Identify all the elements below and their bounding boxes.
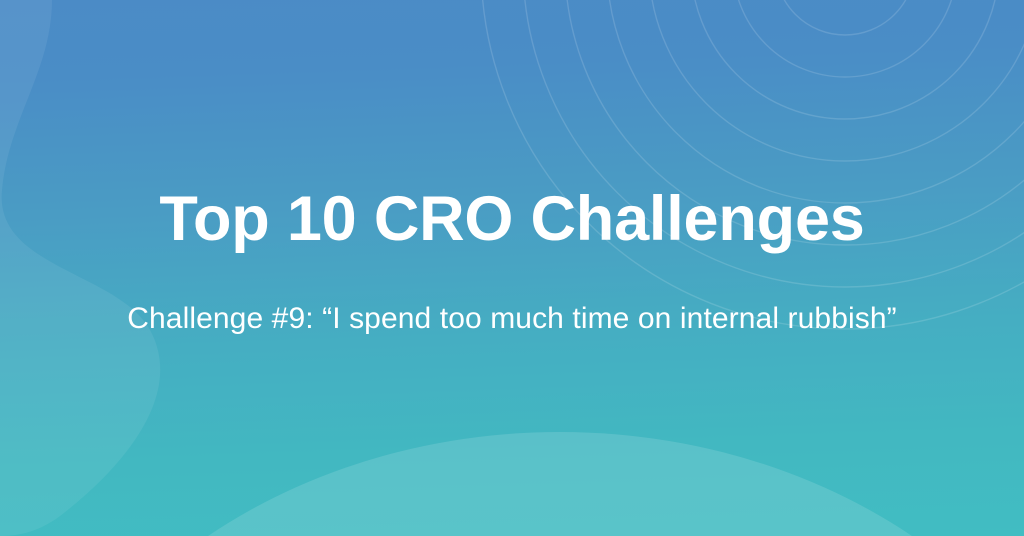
promo-banner: Top 10 CRO Challenges Challenge #9: “I s… [0, 0, 1024, 536]
banner-subtitle: Challenge #9: “I spend too much time on … [0, 301, 1024, 337]
banner-content: Top 10 CRO Challenges Challenge #9: “I s… [0, 0, 1024, 536]
page-title: Top 10 CRO Challenges [0, 186, 1024, 252]
